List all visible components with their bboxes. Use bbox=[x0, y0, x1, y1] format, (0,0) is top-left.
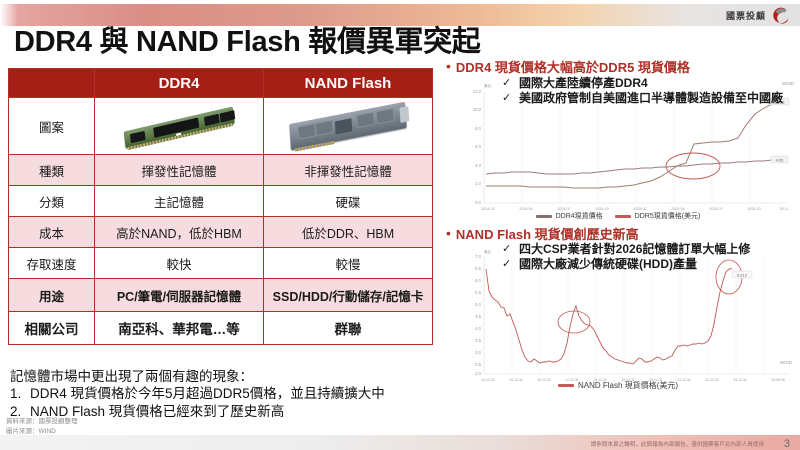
summary-item-1-text: DDR4 現貨價格於今年5月超過DDR5價格，並且持續擴大中 bbox=[30, 386, 385, 401]
svg-text:5.0: 5.0 bbox=[475, 302, 481, 307]
svg-text:2025-07: 2025-07 bbox=[709, 207, 722, 211]
source-data: 資料來源：國票投顧整理 bbox=[6, 417, 78, 427]
bullet-dot-icon: • bbox=[446, 60, 451, 73]
row-label-speed: 存取速度 bbox=[9, 248, 95, 279]
summary-block: 記憶體市場中更出現了兩個有趣的現象： 1.DDR4 現貨價格於今年5月超過DDR… bbox=[10, 368, 430, 420]
panel-1-bullet-text: DDR4 現貨價格大幅高於DDR5 現貨價格 bbox=[456, 60, 690, 75]
svg-text:14-12-31: 14-12-31 bbox=[481, 378, 495, 382]
svg-text:3.0: 3.0 bbox=[475, 350, 481, 355]
comparison-table-wrap: DDR4 NAND Flash 圖案 bbox=[8, 68, 432, 345]
spiral-swirl-logo-icon bbox=[770, 5, 792, 27]
summary-intro: 記憶體市場中更出現了兩個有趣的現象： bbox=[10, 368, 430, 385]
svg-text:8.0: 8.0 bbox=[475, 126, 481, 131]
svg-text:25-11: 25-11 bbox=[780, 207, 789, 211]
svg-text:18-12-31: 18-12-31 bbox=[593, 378, 607, 382]
slide-root: 國票投顧 DDR4 與 NAND Flash 報價異軍突起 DDR4 NAND … bbox=[0, 0, 800, 450]
panel-2-watermark: WIND bbox=[780, 360, 792, 365]
right-panel: • DDR4 現貨價格大幅高於DDR5 現貨價格 bbox=[440, 60, 796, 426]
cell-category-ddr4: 主記憶體 bbox=[95, 186, 264, 217]
svg-text:19-12-31: 19-12-31 bbox=[621, 378, 635, 382]
ddr4-memory-module-icon bbox=[95, 98, 264, 155]
svg-text:5.5: 5.5 bbox=[475, 290, 481, 295]
svg-text:0.0: 0.0 bbox=[475, 200, 481, 205]
svg-text:6.0: 6.0 bbox=[475, 144, 481, 149]
cell-type-nand: 非揮發性記憶體 bbox=[264, 155, 433, 186]
svg-text:7.0: 7.0 bbox=[475, 254, 481, 259]
panel-1-checklist: ✓ 國際大產陸續停產DDR4 ✓ 美國政府管制自美國進口半導體製造設備至中國廠 bbox=[502, 76, 783, 106]
table-header-row: DDR4 NAND Flash bbox=[9, 69, 433, 98]
brand-logo-text: 國票投顧 bbox=[726, 12, 766, 21]
row-label-category: 分類 bbox=[9, 186, 95, 217]
svg-text:15-12-31: 15-12-31 bbox=[509, 378, 523, 382]
cell-cost-ddr4: 高於NAND，低於HBM bbox=[95, 217, 264, 248]
cell-type-ddr4: 揮發性記憶體 bbox=[95, 155, 264, 186]
panel-1-check-2-text: 美國政府管制自美國進口半導體製造設備至中國廠 bbox=[519, 91, 783, 106]
row-label-usage: 用途 bbox=[9, 279, 95, 312]
svg-text:2025-01: 2025-01 bbox=[633, 207, 646, 211]
brand-logo: 國票投顧 bbox=[726, 4, 792, 28]
svg-text:2024-01: 2024-01 bbox=[481, 207, 494, 211]
check-icon: ✓ bbox=[502, 242, 511, 257]
svg-text:4.05: 4.05 bbox=[776, 157, 785, 162]
cell-speed-ddr4: 較快 bbox=[95, 248, 264, 279]
row-label-cost: 成本 bbox=[9, 217, 95, 248]
page-number: 3 bbox=[784, 438, 790, 450]
svg-text:2025-04: 2025-04 bbox=[671, 207, 684, 211]
svg-text:6.612: 6.612 bbox=[737, 272, 747, 277]
table-row: 用途 PC/筆電/伺服器記憶體 SSD/HDD/行動儲存/記憶卡 bbox=[9, 279, 433, 312]
check-icon: ✓ bbox=[502, 91, 511, 106]
svg-text:6.5: 6.5 bbox=[475, 266, 481, 271]
svg-text:17-12-31: 17-12-31 bbox=[565, 378, 579, 382]
svg-text:2024-07: 2024-07 bbox=[557, 207, 570, 211]
svg-text:2.0: 2.0 bbox=[475, 181, 481, 186]
row-label-type: 種類 bbox=[9, 155, 95, 186]
panel-1-watermark: WIND bbox=[782, 81, 794, 86]
table-row: 種類 揮發性記憶體 非揮發性記憶體 bbox=[9, 155, 433, 186]
panel-1-check-1: ✓ 國際大產陸續停產DDR4 bbox=[502, 76, 783, 91]
svg-text:16-12-31: 16-12-31 bbox=[537, 378, 551, 382]
svg-text:23-12-31: 23-12-31 bbox=[733, 378, 747, 382]
check-icon: ✓ bbox=[502, 76, 511, 91]
svg-text:6.0: 6.0 bbox=[475, 278, 481, 283]
table-row: 成本 高於NAND，低於HBM 低於DDR、HBM bbox=[9, 217, 433, 248]
table-row: 圖案 bbox=[9, 98, 433, 155]
cell-usage-ddr4: PC/筆電/伺服器記憶體 bbox=[95, 279, 264, 312]
svg-text:2.5: 2.5 bbox=[475, 362, 481, 367]
svg-text:22-12-31: 22-12-31 bbox=[705, 378, 719, 382]
svg-text:12.0: 12.0 bbox=[473, 89, 482, 94]
header-gradient-fade bbox=[0, 4, 18, 26]
svg-text:2024-10: 2024-10 bbox=[595, 207, 608, 211]
cell-cost-nand: 低於DDR、HBM bbox=[264, 217, 433, 248]
table-header-blank bbox=[9, 69, 95, 98]
svg-text:3.5: 3.5 bbox=[475, 338, 481, 343]
svg-text:4.0: 4.0 bbox=[475, 326, 481, 331]
panel-2-bullet-text: NAND Flash 現貨價創歷史新高 bbox=[456, 227, 639, 242]
table-header-nand: NAND Flash bbox=[264, 69, 433, 98]
summary-item-1: 1.DDR4 現貨價格於今年5月超過DDR5價格，並且持續擴大中 bbox=[10, 385, 430, 402]
bullet-dot-icon: • bbox=[446, 227, 451, 240]
cell-usage-nand: SSD/HDD/行動儲存/記憶卡 bbox=[264, 279, 433, 312]
chart-ddr4-ddr5: 12.0 10.0 8.0 6.0 4.0 2.0 0.0 美元 2024-01… bbox=[440, 77, 796, 225]
panel-1-bullet: • DDR4 現貨價格大幅高於DDR5 現貨價格 bbox=[446, 60, 796, 75]
svg-text:美元: 美元 bbox=[484, 249, 492, 254]
chart-nand-flash: 7.0 6.5 6.0 5.5 5.0 4.5 4.0 3.5 3.0 2.5 … bbox=[440, 244, 796, 396]
header-gradient-bar bbox=[0, 4, 800, 26]
panel-2-check-1: ✓ 四大CSP業者針對2026記憶體訂單大幅上修 bbox=[502, 242, 750, 257]
row-label-companies: 相關公司 bbox=[9, 312, 95, 345]
summary-item-1-number: 1. bbox=[10, 385, 30, 402]
table-row: 分類 主記憶體 硬碟 bbox=[9, 186, 433, 217]
panel-2-bullet: • NAND Flash 現貨價創歷史新高 bbox=[446, 227, 796, 242]
svg-text:25-09-08: 25-09-08 bbox=[771, 378, 785, 382]
svg-text:2025-10: 2025-10 bbox=[747, 207, 760, 211]
panel-2-check-2: ✓ 國際大廠減少傳統硬碟(HDD)產量 bbox=[502, 257, 750, 272]
comparison-table: DDR4 NAND Flash 圖案 bbox=[8, 68, 433, 345]
nand-flash-ssd-board-icon bbox=[264, 98, 433, 155]
panel-2-check-1-text: 四大CSP業者針對2026記憶體訂單大幅上修 bbox=[519, 242, 750, 257]
page-title: DDR4 與 NAND Flash 報價異軍突起 bbox=[14, 27, 481, 59]
svg-text:美元: 美元 bbox=[484, 83, 492, 88]
cell-speed-nand: 較慢 bbox=[264, 248, 433, 279]
table-row: 相關公司 南亞科、華邦電…等 群聯 bbox=[9, 312, 433, 345]
panel-2-check-2-text: 國際大廠減少傳統硬碟(HDD)產量 bbox=[519, 257, 697, 272]
svg-text:10.0: 10.0 bbox=[473, 107, 482, 112]
panel-2-checklist: ✓ 四大CSP業者針對2026記憶體訂單大幅上修 ✓ 國際大廠減少傳統硬碟(HD… bbox=[502, 242, 750, 272]
table-row: 存取速度 較快 較慢 bbox=[9, 248, 433, 279]
svg-text:4.5: 4.5 bbox=[475, 314, 481, 319]
cell-category-nand: 硬碟 bbox=[264, 186, 433, 217]
footer-disclaimer: 請參閱本頁之聲明，此簡報為內部報告，僅供國票客戶及內部人員使用 bbox=[591, 440, 764, 448]
cell-companies-nand: 群聯 bbox=[264, 312, 433, 345]
svg-text:2024-04: 2024-04 bbox=[519, 207, 532, 211]
panel-1-check-1-text: 國際大產陸續停產DDR4 bbox=[519, 76, 648, 91]
panel-1-check-2: ✓ 美國政府管制自美國進口半導體製造設備至中國廠 bbox=[502, 91, 783, 106]
svg-text:20-12-31: 20-12-31 bbox=[649, 378, 663, 382]
svg-text:4.0: 4.0 bbox=[475, 163, 481, 168]
check-icon: ✓ bbox=[502, 257, 511, 272]
svg-text:2.0: 2.0 bbox=[475, 371, 481, 376]
table-header-ddr4: DDR4 bbox=[95, 69, 264, 98]
row-label-image: 圖案 bbox=[9, 98, 95, 155]
cell-companies-ddr4: 南亞科、華邦電…等 bbox=[95, 312, 264, 345]
svg-text:21-12-31: 21-12-31 bbox=[677, 378, 691, 382]
